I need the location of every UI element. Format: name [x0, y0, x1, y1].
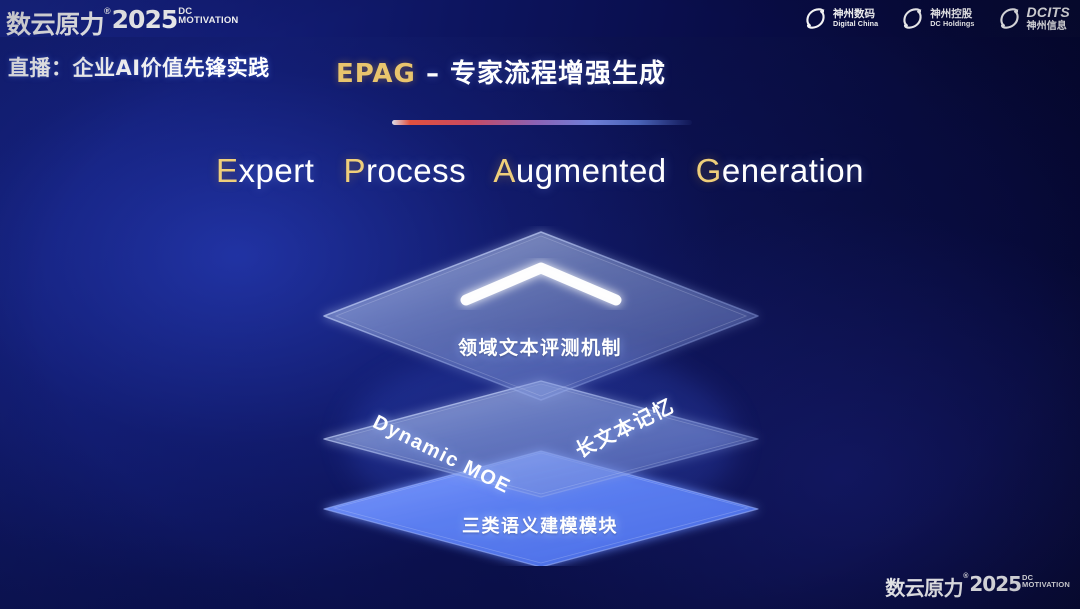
partner-logo-dc-holdings: 神州控股 DC Holdings — [900, 6, 974, 31]
headline-acronym: EPAG — [336, 59, 416, 89]
brand-logo-watermark: 数云原力 ® 2025 DC MOTIVATION — [885, 572, 1070, 601]
swirl-icon — [900, 6, 925, 31]
subtitle-word-process: Process — [343, 152, 466, 189]
brand-logo-chinese: 数云原力 — [6, 5, 104, 41]
brand-logo-year: 2025 — [112, 5, 178, 34]
layer-top — [324, 232, 758, 400]
subtitle-space-3 — [676, 152, 686, 189]
watermark-logo-chinese: 数云原力 — [885, 572, 963, 601]
partner-name-en: DC Holdings — [930, 20, 974, 28]
swirl-icon — [803, 6, 828, 31]
subtitle-word-expert: Expert — [216, 152, 314, 189]
watermark-logo-registered-mark: ® — [963, 573, 968, 580]
layer-stack-svg — [296, 226, 786, 566]
slide-canvas: 数云原力 ® 2025 DC MOTIVATION 神州数码 Digital C… — [0, 0, 1080, 609]
partner-logo-digital-china: 神州数码 Digital China — [803, 6, 878, 31]
watermark-logo-subtext-line2: MOTIVATION — [1022, 582, 1070, 589]
partner-text: 神州数码 Digital China — [833, 9, 878, 29]
subtitle-word-augmented: Augmented — [493, 152, 666, 189]
partner-name-en: Digital China — [833, 20, 878, 28]
brand-logo-subtext: DC MOTIVATION — [178, 8, 238, 26]
layer-stack-diagram — [296, 226, 786, 566]
headline-separator: – — [416, 59, 450, 89]
subtitle-word-generation: Generation — [696, 152, 864, 189]
partner-name-cn: 神州信息 — [1027, 21, 1071, 32]
partner-text: DCITS 神州信息 — [1027, 5, 1071, 32]
headline-chinese: 专家流程增强生成 — [450, 59, 666, 89]
swirl-icon — [997, 6, 1022, 31]
live-program-label: 直播：企业AI价值先锋实践 — [8, 52, 270, 82]
partner-name-en: DCITS — [1027, 5, 1071, 21]
watermark-logo-year: 2025 — [969, 572, 1021, 596]
watermark-logo-subtext: DC MOTIVATION — [1022, 575, 1070, 589]
subtitle-english: Expert Process Augmented Generation — [0, 152, 1080, 190]
page-title: EPAG – 专家流程增强生成 — [336, 53, 666, 90]
gradient-divider — [392, 120, 692, 125]
partner-logo-group: 神州数码 Digital China 神州控股 DC Holdings — [803, 5, 1070, 32]
brand-logo-registered-mark: ® — [104, 6, 111, 16]
subtitle-space-2 — [476, 152, 486, 189]
partner-text: 神州控股 DC Holdings — [930, 9, 974, 29]
brand-logo-top-left: 数云原力 ® 2025 DC MOTIVATION — [6, 5, 238, 41]
partner-logo-dcits: DCITS 神州信息 — [997, 5, 1071, 32]
brand-logo-subtext-line2: MOTIVATION — [178, 17, 238, 26]
subtitle-space-1 — [324, 152, 334, 189]
